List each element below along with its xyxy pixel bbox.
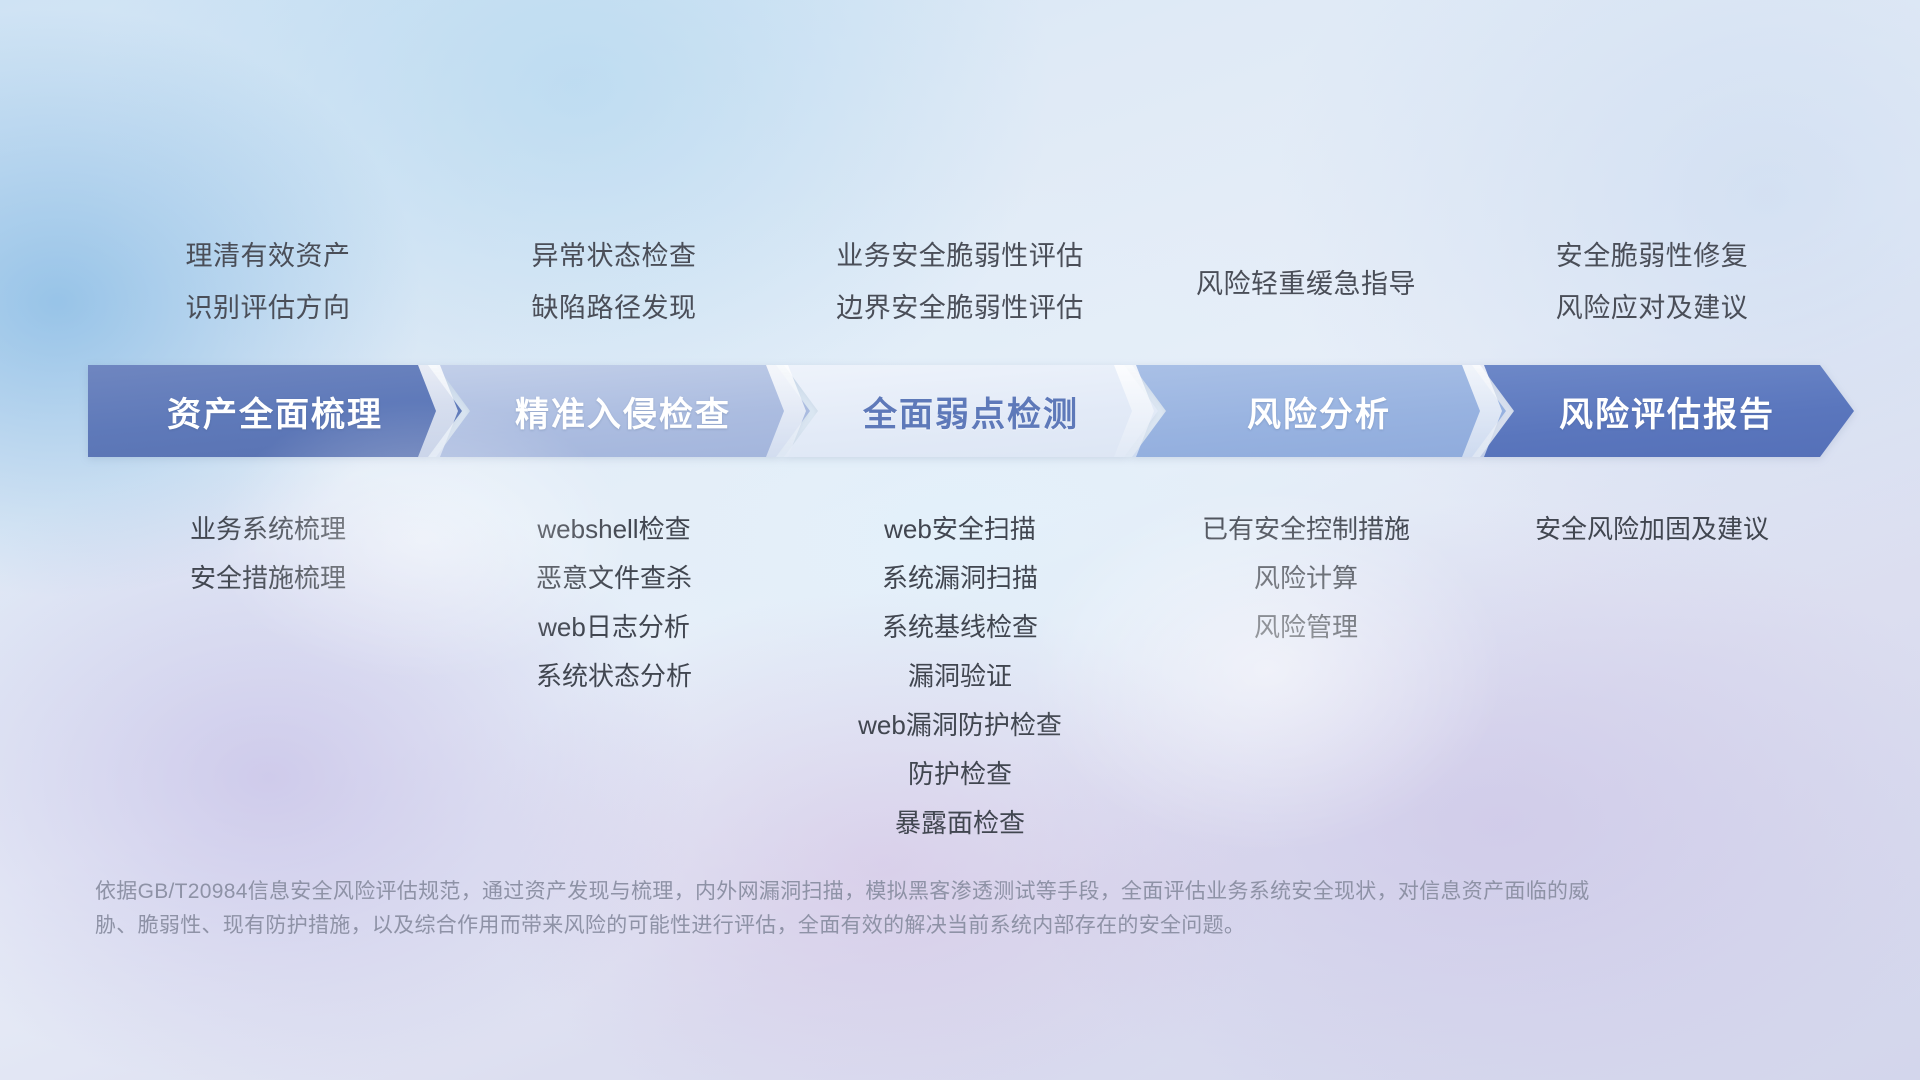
list-item: 风险管理 xyxy=(1254,603,1358,652)
bottom-column-5: 安全风险加固及建议 xyxy=(1479,505,1825,848)
list-item: 业务系统梳理 xyxy=(190,505,346,554)
list-item: 漏洞验证 xyxy=(908,652,1012,701)
list-item: 系统状态分析 xyxy=(536,652,692,701)
top-label: 识别评估方向 xyxy=(186,282,351,334)
bottom-column-3: web安全扫描 系统漏洞扫描 系统基线检查 漏洞验证 web漏洞防护检查 防护检… xyxy=(787,505,1133,848)
list-item: 系统基线检查 xyxy=(882,603,1038,652)
bottom-column-4: 已有安全控制措施 风险计算 风险管理 xyxy=(1133,505,1479,848)
footer-description: 依据GB/T20984信息安全风险评估规范，通过资产发现与梳理，内外网漏洞扫描，… xyxy=(95,875,1625,943)
process-step-label: 精准入侵检查 xyxy=(515,387,731,436)
process-arrow-banner: 资产全面梳理 精准入侵检查 全面弱点检测 风险分析 风险评估报告 xyxy=(88,365,1828,457)
process-step-label: 资产全面梳理 xyxy=(167,387,383,436)
process-step-1[interactable]: 资产全面梳理 xyxy=(88,365,462,457)
top-label: 理清有效资产 xyxy=(186,230,351,282)
list-item: 系统漏洞扫描 xyxy=(882,554,1038,603)
list-item: webshell检查 xyxy=(537,505,690,554)
list-item: web漏洞防护检查 xyxy=(858,701,1062,750)
bottom-column-2: webshell检查 恶意文件查杀 web日志分析 系统状态分析 xyxy=(441,505,787,848)
process-step-4[interactable]: 风险分析 xyxy=(1132,365,1506,457)
process-step-label: 风险评估报告 xyxy=(1559,387,1775,436)
list-item: 已有安全控制措施 xyxy=(1202,505,1410,554)
top-column-3: 业务安全脆弱性评估 边界安全脆弱性评估 xyxy=(787,230,1133,334)
top-column-4: 风险轻重缓急指导 xyxy=(1133,230,1479,334)
list-item: 安全风险加固及建议 xyxy=(1535,505,1769,554)
process-step-5[interactable]: 风险评估报告 xyxy=(1480,365,1854,457)
process-step-label: 全面弱点检测 xyxy=(863,387,1079,436)
diagram-canvas: 理清有效资产 识别评估方向 异常状态检查 缺陷路径发现 业务安全脆弱性评估 边界… xyxy=(0,0,1920,1080)
process-step-3[interactable]: 全面弱点检测 xyxy=(784,365,1158,457)
process-step-2[interactable]: 精准入侵检查 xyxy=(436,365,810,457)
top-label: 异常状态检查 xyxy=(532,230,697,282)
list-item: 风险计算 xyxy=(1254,554,1358,603)
list-item: web安全扫描 xyxy=(884,505,1036,554)
list-item: 恶意文件查杀 xyxy=(536,554,692,603)
bottom-column-1: 业务系统梳理 安全措施梳理 xyxy=(95,505,441,848)
bottom-labels-row: 业务系统梳理 安全措施梳理 webshell检查 恶意文件查杀 web日志分析 … xyxy=(95,505,1825,848)
list-item: 安全措施梳理 xyxy=(190,554,346,603)
top-label: 缺陷路径发现 xyxy=(532,282,697,334)
top-label: 安全脆弱性修复 xyxy=(1556,230,1749,282)
top-labels-row: 理清有效资产 识别评估方向 异常状态检查 缺陷路径发现 业务安全脆弱性评估 边界… xyxy=(95,230,1825,334)
top-column-1: 理清有效资产 识别评估方向 xyxy=(95,230,441,334)
top-column-5: 安全脆弱性修复 风险应对及建议 xyxy=(1479,230,1825,334)
top-label: 业务安全脆弱性评估 xyxy=(836,230,1084,282)
top-column-2: 异常状态检查 缺陷路径发现 xyxy=(441,230,787,334)
list-item: 防护检查 xyxy=(908,750,1012,799)
list-item: 暴露面检查 xyxy=(895,799,1025,848)
process-step-label: 风险分析 xyxy=(1247,387,1391,436)
top-label: 风险轻重缓急指导 xyxy=(1196,258,1416,310)
top-label: 边界安全脆弱性评估 xyxy=(836,282,1084,334)
top-label: 风险应对及建议 xyxy=(1556,282,1749,334)
list-item: web日志分析 xyxy=(538,603,690,652)
